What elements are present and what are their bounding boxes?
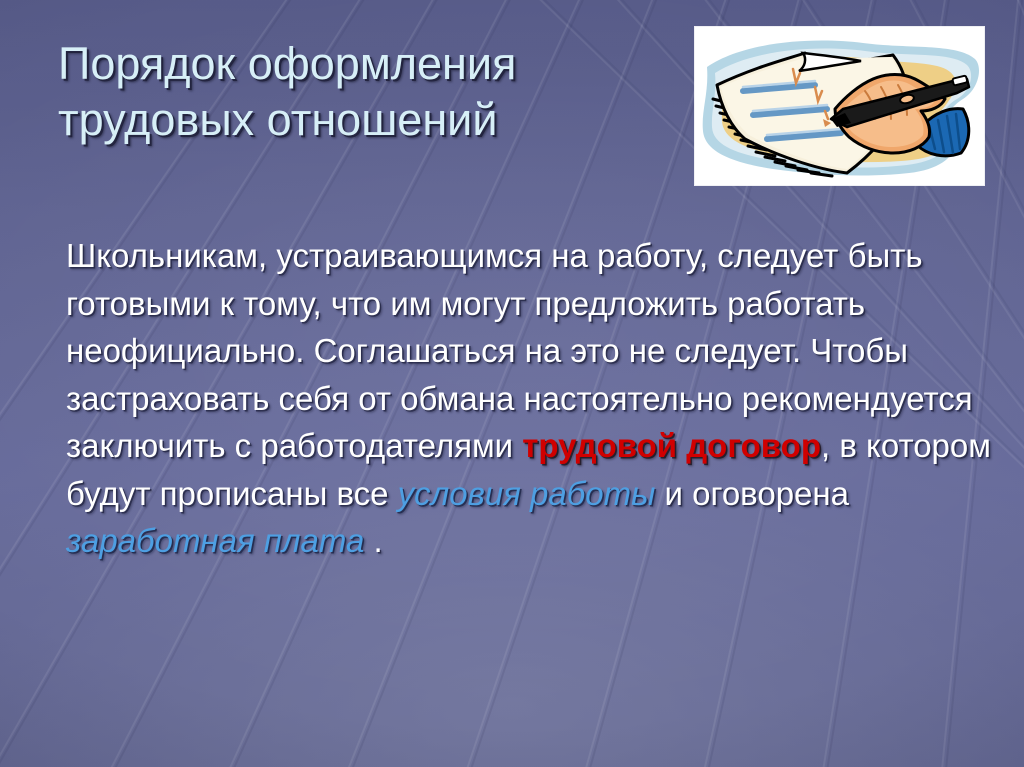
highlight-zarabotnaya-plata: заработная плата: [66, 522, 364, 559]
body-paragraph: Школьникам, устраивающимся на работу, сл…: [66, 232, 996, 565]
body-text-part-4: .: [364, 522, 382, 559]
presentation-slide: Порядок оформления трудовых отношений: [0, 0, 1024, 767]
highlight-trudovoy-dogovor: трудовой договор: [522, 427, 821, 464]
highlight-usloviya-raboty: условия работы: [398, 475, 656, 512]
body-text-part-3: и оговорена: [655, 475, 849, 512]
slide-title: Порядок оформления трудовых отношений: [58, 36, 698, 148]
hand-signing-document-illustration: [695, 27, 984, 185]
